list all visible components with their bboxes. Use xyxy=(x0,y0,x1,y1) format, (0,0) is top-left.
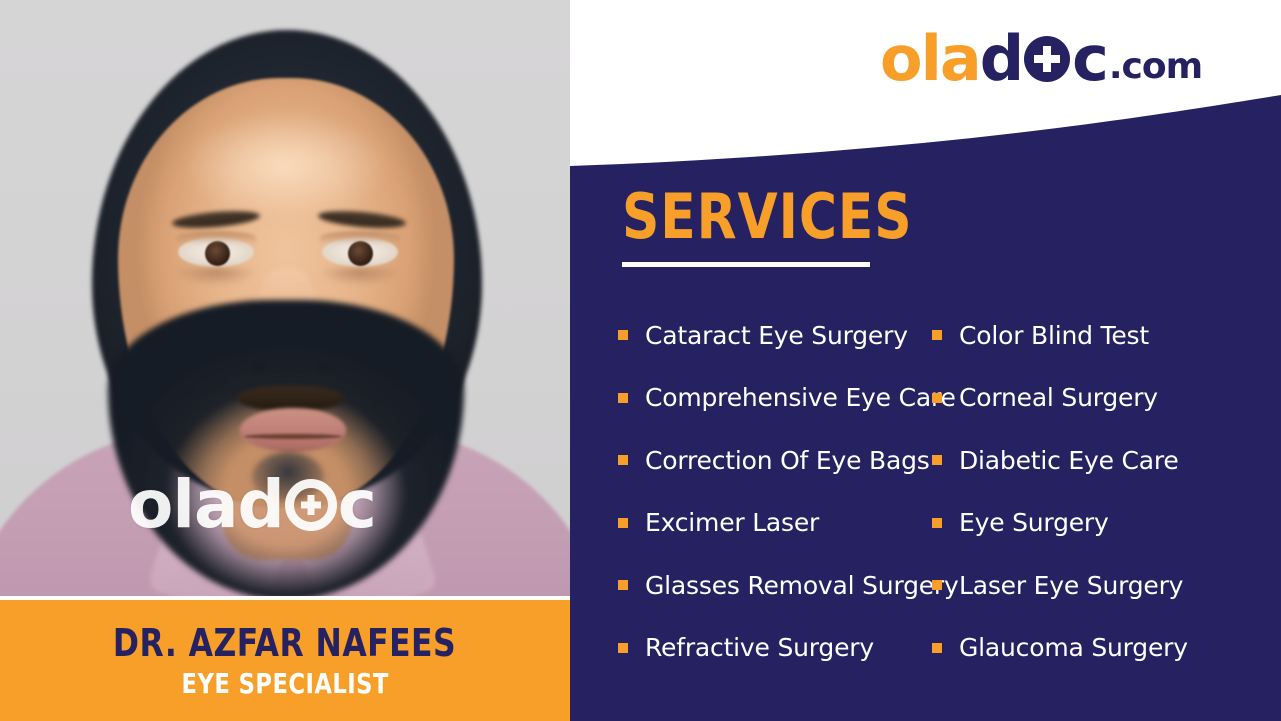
logo-text-tld: .com xyxy=(1109,49,1202,90)
logo-text-c: c xyxy=(1072,28,1107,90)
bullet-square-icon xyxy=(932,580,942,590)
logo-text-ola: ola xyxy=(880,28,980,90)
portrait-iris-right xyxy=(348,241,373,266)
service-label: Laser Eye Surgery xyxy=(959,571,1183,600)
bullet-square-icon xyxy=(932,393,942,403)
portrait-lips xyxy=(240,408,346,452)
plus-circle-icon xyxy=(1024,36,1070,82)
services-column-right: Color Blind Test Corneal Surgery Diabeti… xyxy=(570,304,932,679)
portrait-undereye-right xyxy=(320,268,400,286)
doctor-name-banner: DR. AZFAR NAFEES EYE SPECIALIST xyxy=(0,600,570,721)
service-label: Color Blind Test xyxy=(959,321,1149,350)
portrait-eyelid-right xyxy=(320,231,400,244)
portrait-chin xyxy=(252,452,324,502)
services-title-underline xyxy=(622,262,870,267)
services-panel: ola d c .com SERVICES Cataract Eye Surge… xyxy=(570,0,1281,721)
portrait-forehead-highlight xyxy=(180,110,390,220)
portrait-iris-left xyxy=(205,241,230,266)
service-label: Glaucoma Surgery xyxy=(959,633,1188,662)
bullet-square-icon xyxy=(932,643,942,653)
service-label: Corneal Surgery xyxy=(959,383,1158,412)
oladoc-logo[interactable]: ola d c .com xyxy=(880,28,1202,90)
service-label: Eye Surgery xyxy=(959,508,1109,537)
doctor-name: DR. AZFAR NAFEES xyxy=(113,621,456,665)
portrait-eyelid-left xyxy=(176,231,256,244)
doctor-specialty: EYE SPECIALIST xyxy=(181,667,388,700)
doctor-photo-panel: olad c DR. AZFAR NAFEES EYE SPECIALIST xyxy=(0,0,570,721)
bullet-square-icon xyxy=(932,330,942,340)
portrait-lip-line xyxy=(244,434,342,439)
bullet-square-icon xyxy=(932,455,942,465)
portrait-undereye-left xyxy=(176,268,256,286)
services-heading-group: SERVICES xyxy=(622,186,934,267)
service-label: Diabetic Eye Care xyxy=(959,446,1179,475)
services-list: Cataract Eye Surgery Comprehensive Eye C… xyxy=(570,304,1281,679)
doctor-services-card: olad c DR. AZFAR NAFEES EYE SPECIALIST o… xyxy=(0,0,1281,721)
logo-text-d: d xyxy=(980,28,1022,90)
doctor-photo: olad c xyxy=(0,0,570,596)
bullet-square-icon xyxy=(932,518,942,528)
services-title: SERVICES xyxy=(622,186,913,248)
